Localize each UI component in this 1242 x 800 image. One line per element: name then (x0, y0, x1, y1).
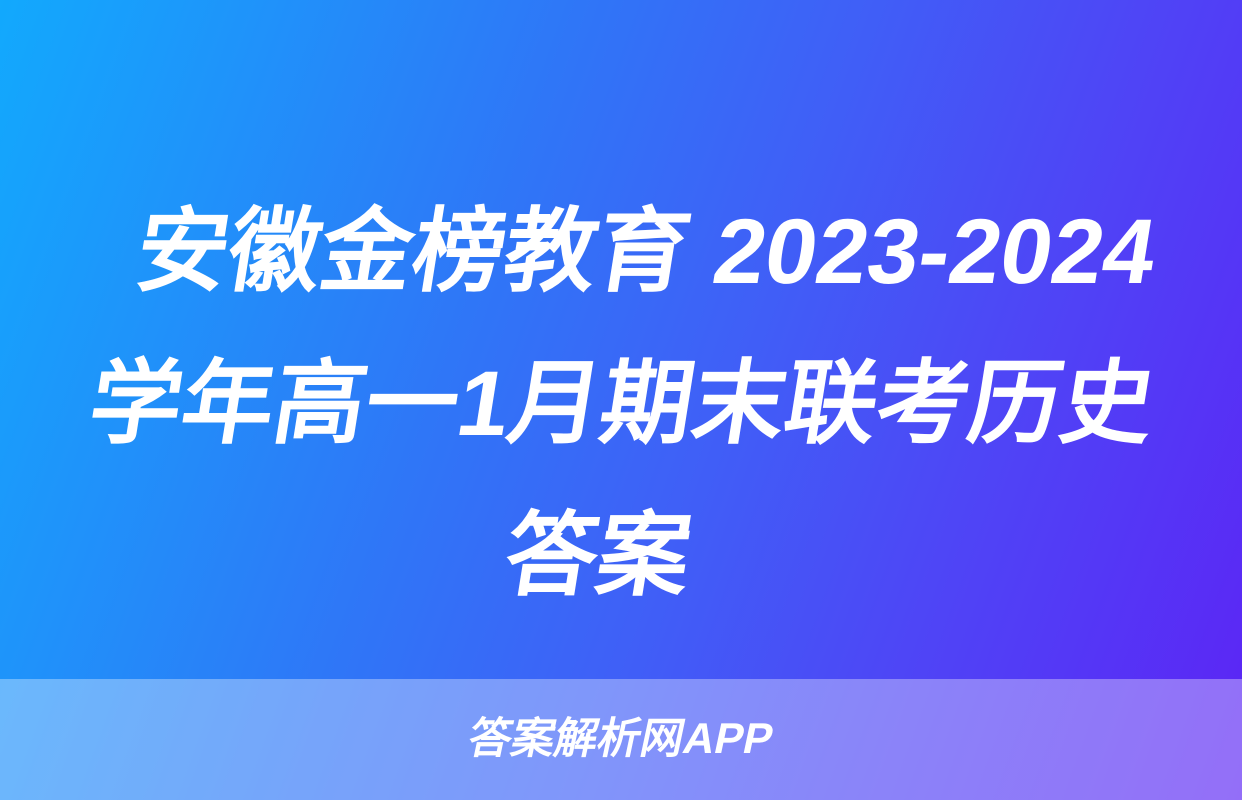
page-title: 安徽金榜教育 2023-2024学年高一1月期末联考历史答案 (34, 176, 1210, 632)
footer-watermark-band: 答案解析网APP (0, 679, 1242, 800)
title-block: 安徽金榜教育 2023-2024学年高一1月期末联考历史答案 (70, 176, 1174, 632)
watermark-text: 答案解析网APP (465, 718, 778, 761)
cover-card: 安徽金榜教育 2023-2024学年高一1月期末联考历史答案 答案解析网APP (0, 0, 1242, 800)
